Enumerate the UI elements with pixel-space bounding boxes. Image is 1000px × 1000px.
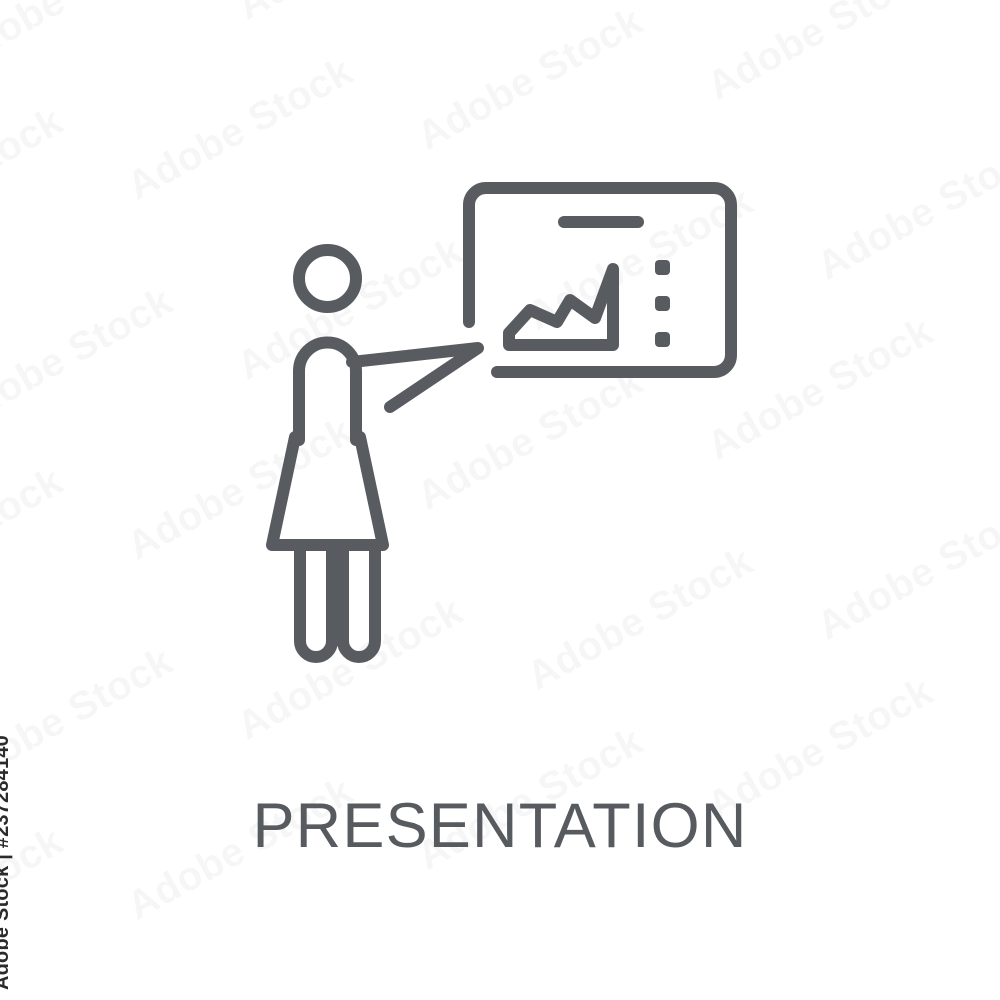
presenter-skirt-icon (272, 437, 383, 545)
presenter-head-icon (299, 250, 356, 307)
presenter-leg-right-icon (343, 551, 375, 657)
icon-caption: PRESENTATION (0, 795, 1000, 858)
board-bullet-dot-2-icon (655, 296, 670, 311)
board-bullet-dot-1-icon (655, 260, 670, 275)
presenter-leg-left-icon (300, 551, 332, 657)
board-title-bar-icon (558, 216, 644, 228)
icon-illustration-canvas: Adobe Stock Adobe Stock Adobe Stock Adob… (0, 0, 1000, 1000)
board-chart-graph-icon (509, 269, 613, 345)
caption-label: PRESENTATION (252, 795, 747, 858)
presenter-arm-icon (352, 348, 478, 407)
board-bullet-dot-3-icon (655, 332, 670, 347)
presenter-person (272, 250, 478, 657)
presenter-torso-icon (299, 343, 356, 441)
